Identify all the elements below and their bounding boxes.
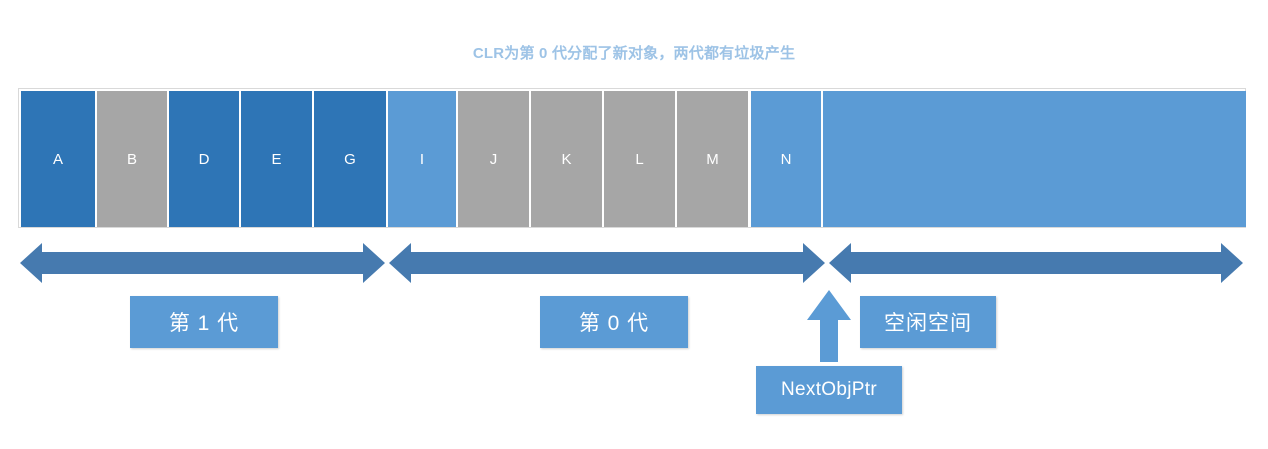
heap-block-e: E	[241, 91, 312, 227]
label-generation-0: 第 0 代	[540, 296, 688, 348]
heap-block-j: J	[458, 91, 529, 227]
heap-block-label: E	[271, 152, 281, 167]
heap-block-n: N	[751, 91, 821, 227]
heap-free-region	[823, 91, 1246, 227]
range-arrow-gen0	[389, 243, 825, 283]
heap-block-label: L	[635, 152, 643, 167]
heap-block-label: M	[706, 152, 719, 167]
page-title: CLR为第 0 代分配了新对象，两代都有垃圾产生	[0, 42, 1268, 63]
heap-block-g: G	[314, 91, 386, 227]
label-generation-1: 第 1 代	[130, 296, 278, 348]
heap-block-m: M	[677, 91, 748, 227]
range-arrow-gen1	[20, 243, 385, 283]
managed-heap-strip: ABDEGIJKLMN	[18, 88, 1246, 228]
arrow-up-icon	[805, 288, 853, 364]
label-nextobjptr: NextObjPtr	[756, 366, 902, 414]
range-arrow-free_space	[829, 243, 1243, 283]
heap-block-label: K	[561, 152, 571, 167]
heap-block-k: K	[531, 91, 602, 227]
heap-block-l: L	[604, 91, 675, 227]
heap-block-d: D	[169, 91, 239, 227]
heap-block-b: B	[97, 91, 167, 227]
heap-block-label: N	[781, 152, 792, 167]
label-free-space: 空闲空间	[860, 296, 996, 348]
heap-block-label: J	[490, 152, 498, 167]
heap-block-label: D	[199, 152, 210, 167]
heap-block-label: A	[53, 152, 63, 167]
heap-block-a: A	[21, 91, 95, 227]
heap-block-label: B	[127, 152, 137, 167]
gc-heap-diagram: CLR为第 0 代分配了新对象，两代都有垃圾产生 ABDEGIJKLMN 第 1…	[0, 0, 1268, 449]
heap-block-i: I	[388, 91, 456, 227]
heap-block-label: I	[420, 152, 424, 167]
heap-block-label: G	[344, 152, 356, 167]
